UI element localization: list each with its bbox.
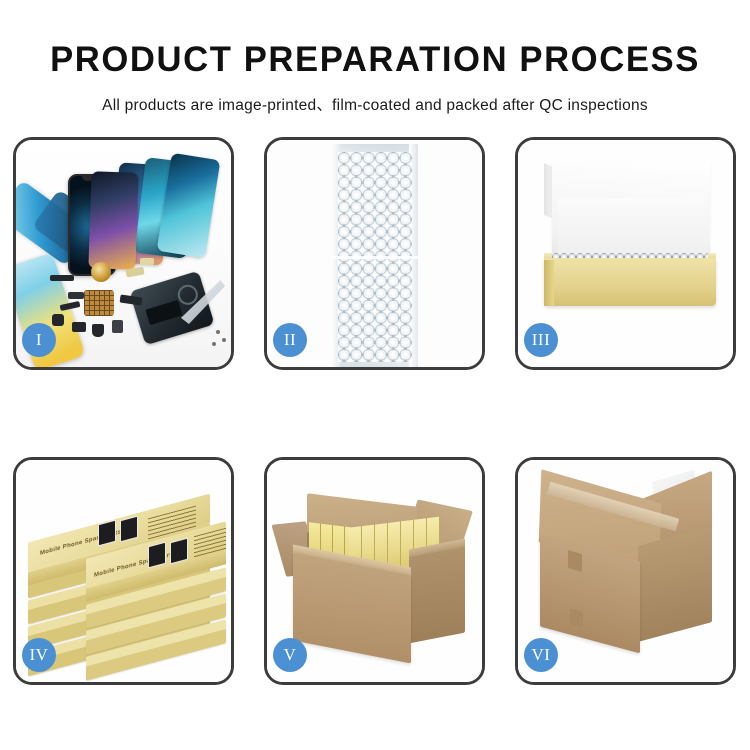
step-panel-6[interactable]: VI: [515, 457, 736, 685]
box-tray-edge: [544, 260, 554, 306]
antenna-flex-part: [120, 295, 143, 306]
step-badge-5: V: [273, 638, 307, 672]
wrap-seam: [332, 256, 418, 259]
step-panel-1[interactable]: I: [13, 137, 234, 370]
phone-screen-amber: [88, 171, 138, 270]
carton-handle-notch: [568, 550, 582, 572]
speaker-coil-part: [91, 262, 111, 282]
gold-flex-part: [125, 266, 144, 277]
bubble-wrap-sleeve: [332, 144, 418, 367]
process-row-top: I II: [13, 137, 737, 370]
button-part: [52, 314, 64, 326]
step-badge-2: II: [273, 323, 307, 357]
step-panel-2[interactable]: II: [264, 137, 485, 370]
step-badge-4: IV: [22, 638, 56, 672]
packed-box: [388, 521, 401, 569]
gold-contact-part: [140, 258, 154, 265]
process-steps-grid: I II: [13, 137, 737, 685]
process-row-bottom: Mobile Phone Spare Parts Mobile Phone Sp…: [13, 457, 737, 685]
screw-part: [212, 342, 216, 346]
page-title: PRODUCT PREPARATION PROCESS: [4, 42, 747, 77]
step-panel-3[interactable]: III: [515, 137, 736, 370]
camera-module-part: [72, 322, 86, 332]
flex-cable-part: [50, 275, 74, 281]
page-subtitle: All products are image-printed、film-coat…: [0, 93, 750, 115]
screw-part: [216, 330, 220, 334]
carton-side-face: [409, 547, 465, 644]
screw-part: [222, 338, 226, 342]
step-badge-6: VI: [524, 638, 558, 672]
taptic-part: [112, 320, 123, 333]
product-preparation-process-page: PRODUCT PREPARATION PROCESS All products…: [0, 0, 750, 750]
step-badge-3: III: [524, 323, 558, 357]
step-badge-1: I: [22, 323, 56, 357]
small-chip-part: [68, 292, 84, 299]
step-panel-5[interactable]: V: [264, 457, 485, 685]
box-tray: [544, 258, 716, 306]
box-stack: Mobile Phone Spare Parts Mobile Phone Sp…: [24, 478, 230, 674]
header: PRODUCT PREPARATION PROCESS All products…: [0, 0, 750, 115]
copper-mesh-part: [84, 290, 114, 316]
step-panel-4[interactable]: Mobile Phone Spare Parts Mobile Phone Sp…: [13, 457, 234, 685]
carton-handle-notch: [570, 608, 583, 627]
carton-right-face: [638, 526, 712, 642]
vibrator-part: [92, 324, 104, 337]
